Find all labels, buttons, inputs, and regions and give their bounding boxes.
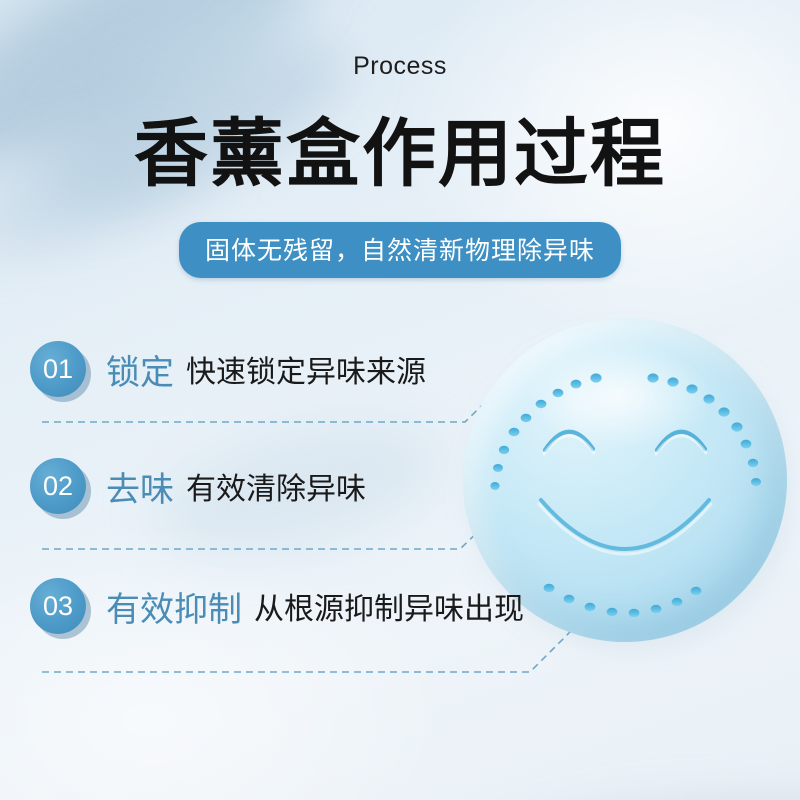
page-title: 香薰盒作用过程 xyxy=(0,94,800,201)
step-description-1: 快速锁定异味来源 xyxy=(186,347,426,391)
vent-holes-top xyxy=(490,373,761,490)
step-number-badge-1: 01 xyxy=(30,341,86,397)
eyebrow-label: Process xyxy=(0,52,800,81)
step-item-3: 03 有效抑制 从根源抑制异味出现 xyxy=(30,578,524,634)
step-item-2: 02 去味 有效清除异味 xyxy=(30,458,366,514)
step-number-badge-3: 03 xyxy=(30,578,86,634)
step-number-badge-2: 02 xyxy=(30,458,86,514)
step-label-3: 有效抑制 xyxy=(106,582,242,631)
step-description-2: 有效清除异味 xyxy=(186,464,366,508)
mouth xyxy=(541,500,709,549)
subtitle-banner: 固体无残留，自然清新物理除异味 xyxy=(179,222,621,278)
step-label-2: 去味 xyxy=(106,462,174,511)
vent-holes-bottom xyxy=(544,584,702,617)
mouth-emboss xyxy=(539,504,711,554)
step-item-1: 01 锁定 快速锁定异味来源 xyxy=(30,341,426,397)
product-marketing-poster: Process 香薰盒作用过程 固体无残留，自然清新物理除异味 01 锁定 快速… xyxy=(0,0,800,800)
subtitle-banner-wrap: 固体无残留，自然清新物理除异味 xyxy=(0,222,800,278)
step-label-1: 锁定 xyxy=(106,345,174,394)
step-description-3: 从根源抑制异味出现 xyxy=(254,584,524,628)
